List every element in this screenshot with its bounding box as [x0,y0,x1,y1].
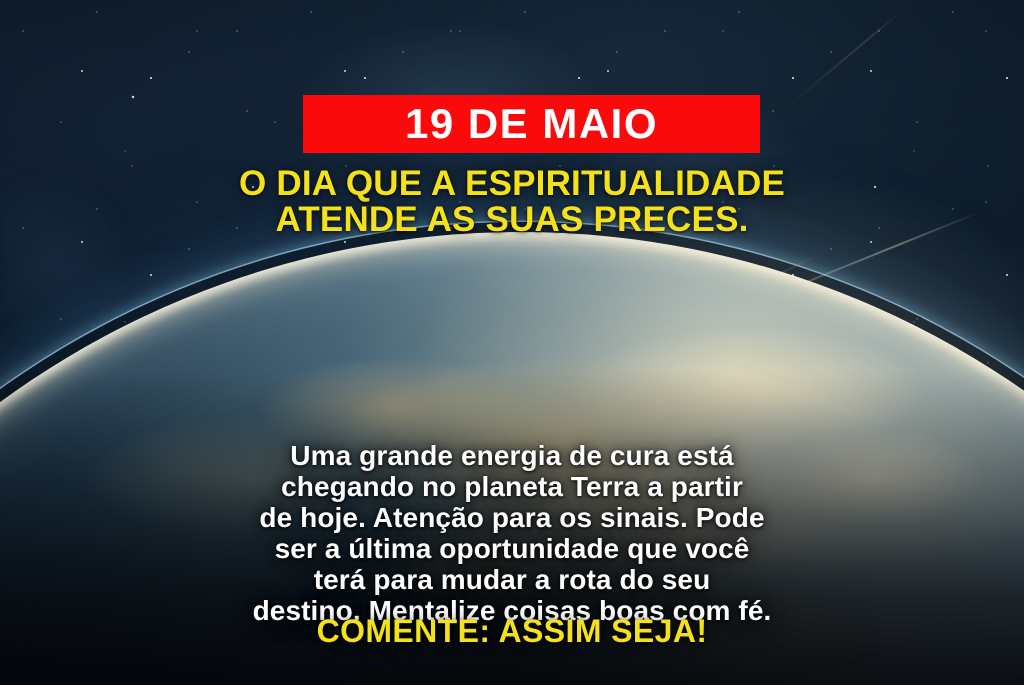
body-line-4: ser a última oportunidade que você [50,533,974,564]
date-banner: 19 DE MAIO [303,95,760,153]
poster-canvas: 19 DE MAIO O DIA QUE A ESPIRITUALIDADE A… [0,0,1024,685]
poster-content: 19 DE MAIO O DIA QUE A ESPIRITUALIDADE A… [0,0,1024,685]
body-line-2: chegando no planeta Terra a partir [50,471,974,502]
headline-line-1: O DIA QUE A ESPIRITUALIDADE [239,164,785,203]
headline: O DIA QUE A ESPIRITUALIDADE ATENDE AS SU… [0,166,1024,238]
call-to-action: COMENTE: ASSIM SEJA! [0,613,1024,649]
call-to-action-label: COMENTE: ASSIM SEJA! [317,613,708,649]
body-paragraph: Uma grande energia de cura está chegando… [50,440,974,626]
body-line-5: terá para mudar a rota do seu [50,564,974,595]
body-line-1: Uma grande energia de cura está [50,440,974,471]
headline-line-2: ATENDE AS SUAS PRECES. [0,202,1024,238]
body-line-3: de hoje. Atenção para os sinais. Pode [50,502,974,533]
date-banner-label: 19 DE MAIO [405,103,658,145]
